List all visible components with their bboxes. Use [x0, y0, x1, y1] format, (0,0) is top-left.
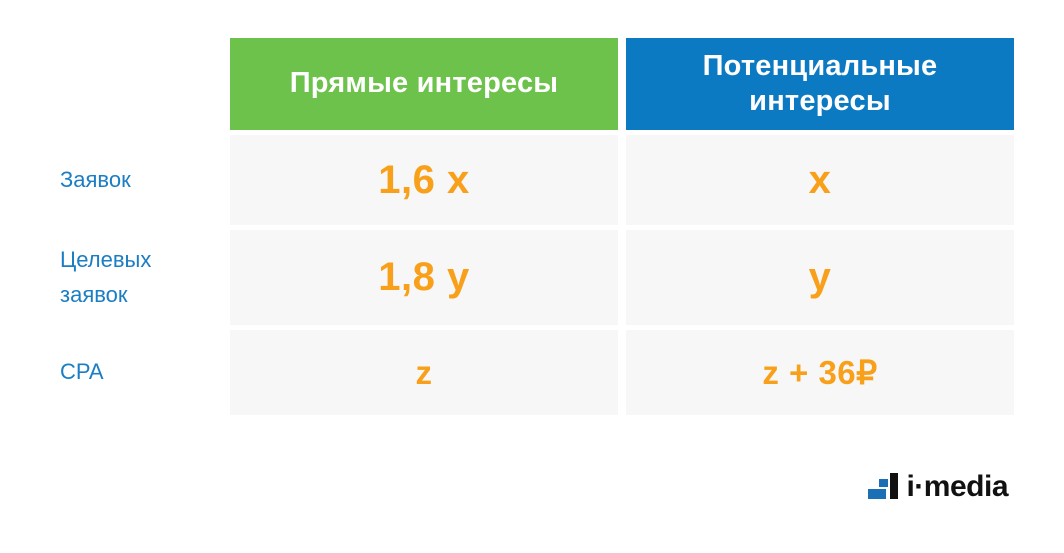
- table-corner-cell: [60, 38, 222, 130]
- logo-wordmark: i·media: [906, 473, 1008, 502]
- cell-target-requests-potential: y: [626, 230, 1014, 325]
- cell-cpa-direct: z: [230, 330, 618, 415]
- column-header-label: Прямые интересы: [290, 66, 559, 101]
- cell-requests-potential: x: [626, 135, 1014, 225]
- bar-chart-mark-icon: [868, 471, 902, 501]
- cell-value: 1,6 x: [378, 158, 469, 203]
- cell-value: x: [809, 158, 832, 203]
- column-header-label: Потенциальные интересы: [640, 49, 1000, 120]
- cell-value: z: [416, 354, 433, 392]
- cell-value: y: [809, 255, 832, 300]
- row-label-line: Заявок: [60, 163, 131, 197]
- row-label-target-requests: Целевых заявок: [60, 230, 222, 325]
- cell-requests-direct: 1,6 x: [230, 135, 618, 225]
- row-label-requests: Заявок: [60, 135, 222, 225]
- cell-value: 1,8 y: [378, 255, 469, 300]
- row-label-line: Целевых: [60, 243, 151, 277]
- cell-target-requests-direct: 1,8 y: [230, 230, 618, 325]
- column-header-potential-interests: Потенциальные интересы: [626, 38, 1014, 130]
- comparison-table: Прямые интересы Потенциальные интересы З…: [60, 38, 1006, 415]
- row-label-cpa: CPA: [60, 330, 222, 415]
- column-header-direct-interests: Прямые интересы: [230, 38, 618, 130]
- row-label-line: CPA: [60, 355, 104, 389]
- cell-value: z + 36₽: [762, 353, 877, 392]
- cell-cpa-potential: z + 36₽: [626, 330, 1014, 415]
- row-label-line: заявок: [60, 278, 151, 312]
- slide-canvas: Прямые интересы Потенциальные интересы З…: [0, 0, 1064, 553]
- brand-logo: i·media: [868, 471, 1008, 501]
